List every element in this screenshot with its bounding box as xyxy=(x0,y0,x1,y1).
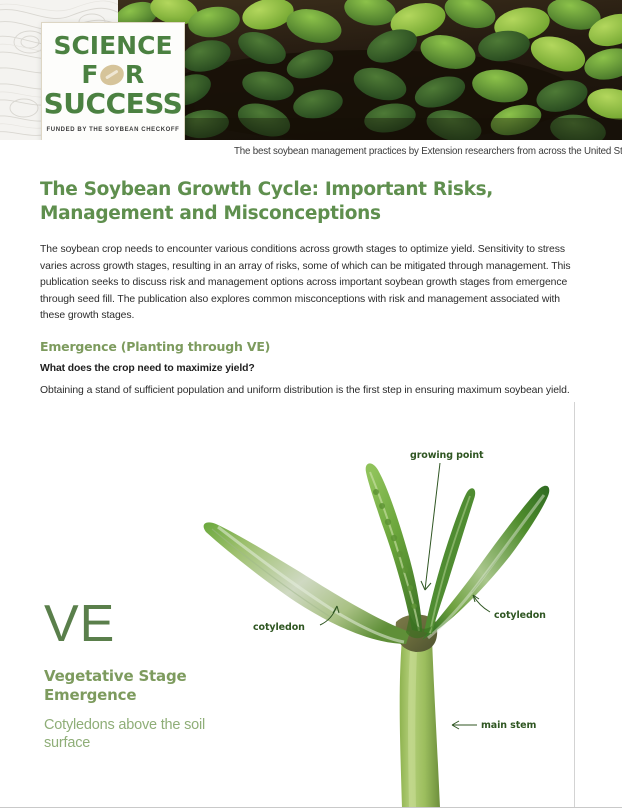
logo-text-for: F R xyxy=(81,62,144,87)
stage-code: VE xyxy=(44,600,244,649)
stage-description: Cotyledons above the soil surface xyxy=(44,717,244,753)
logo-text-success: SUCCESS xyxy=(44,90,183,118)
soybean-icon xyxy=(97,61,126,87)
logo-letter-f: F xyxy=(81,62,99,87)
article-body: The Soybean Growth Cycle: Important Risk… xyxy=(40,178,578,432)
logo-funded-by: FUNDED BY THE SOYBEAN CHECKOFF xyxy=(47,127,180,133)
annotation-growing-point: growing point xyxy=(410,450,484,461)
section-heading-emergence: Emergence (Planting through VE) xyxy=(40,339,578,354)
section-question: What does the crop need to maximize yiel… xyxy=(40,363,578,374)
figure-divider xyxy=(574,402,575,808)
header-banner: SCIENCE F R SUCCESS FUNDED BY THE SOYBEA… xyxy=(0,0,622,140)
intro-paragraph: The soybean crop needs to encounter vari… xyxy=(40,242,578,324)
soybean-seedling-photo xyxy=(196,400,574,808)
banner-tagline: The best soybean management practices by… xyxy=(234,145,622,157)
stage-name: Vegetative Stage Emergence xyxy=(44,667,244,704)
annotation-cotyledon-right: cotyledon xyxy=(494,610,546,621)
soybean-field-photo xyxy=(118,0,622,140)
science-for-success-logo: SCIENCE F R SUCCESS FUNDED BY THE SOYBEA… xyxy=(41,22,185,140)
page-title: The Soybean Growth Cycle: Important Risk… xyxy=(40,178,578,225)
logo-text-science: SCIENCE xyxy=(53,33,172,58)
growth-stage-caption: VE Vegetative Stage Emergence Cotyledons… xyxy=(44,600,244,753)
document-page: SCIENCE F R SUCCESS FUNDED BY THE SOYBEA… xyxy=(0,0,622,808)
annotation-cotyledon-left: cotyledon xyxy=(253,622,305,633)
logo-letter-r: R xyxy=(125,62,145,87)
annotation-main-stem: main stem xyxy=(481,720,536,731)
